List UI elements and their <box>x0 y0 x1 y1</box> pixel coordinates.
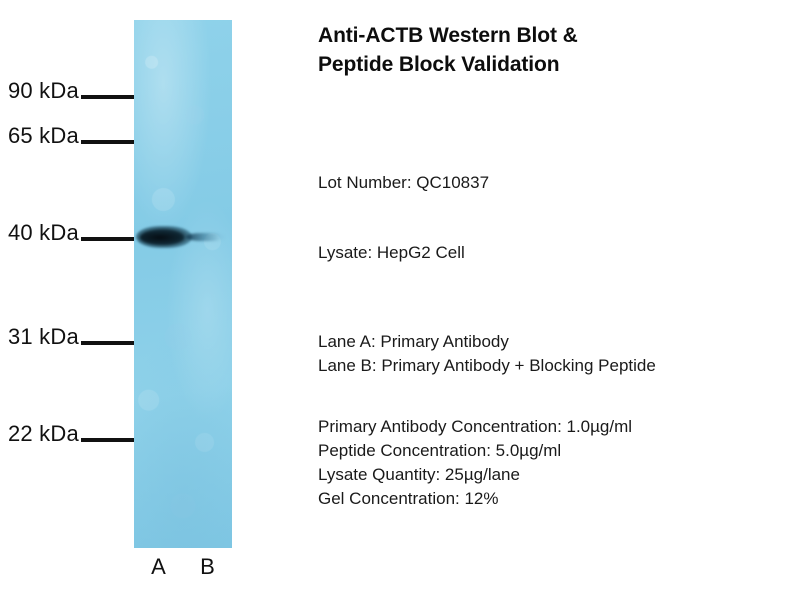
lysate-text: Lysate: HepG2 Cell <box>318 244 465 261</box>
page-title-line-1: Anti-ACTB Western Blot & <box>318 22 800 51</box>
marker-tick-22kda <box>81 438 134 442</box>
protein-band-lane-a-core <box>140 231 184 244</box>
page-title: Anti-ACTB Western Blot & Peptide Block V… <box>318 22 800 80</box>
blot-info-panel: Anti-ACTB Western Blot & Peptide Block V… <box>318 22 800 80</box>
gel-concentration-text: Gel Concentration: 12% <box>318 490 499 507</box>
lane-label-a: A <box>151 554 166 580</box>
marker-row-40kda: 40 kDa <box>8 220 134 246</box>
page-title-line-2: Peptide Block Validation <box>318 51 800 80</box>
protein-band-lane-b <box>186 233 226 241</box>
molecular-weight-marker-ladder: 90 kDa 65 kDa 40 kDa 31 kDa 22 kDa <box>0 0 134 600</box>
marker-row-31kda: 31 kDa <box>8 324 134 350</box>
marker-tick-40kda <box>81 237 134 241</box>
marker-label-22kda: 22 kDa <box>8 421 79 447</box>
lot-number-text: Lot Number: QC10837 <box>318 174 489 191</box>
marker-row-90kda: 90 kDa <box>8 78 134 104</box>
marker-row-65kda: 65 kDa <box>8 123 134 149</box>
blot-membrane-image <box>134 20 232 548</box>
primary-antibody-concentration-text: Primary Antibody Concentration: 1.0µg/ml <box>318 418 632 435</box>
marker-tick-90kda <box>81 95 134 99</box>
lane-label-b: B <box>200 554 215 580</box>
lane-label-row: A B <box>134 554 232 580</box>
marker-row-22kda: 22 kDa <box>8 421 134 447</box>
lane-b-description: Lane B: Primary Antibody + Blocking Pept… <box>318 357 656 374</box>
marker-tick-65kda <box>81 140 134 144</box>
peptide-concentration-text: Peptide Concentration: 5.0µg/ml <box>318 442 561 459</box>
lysate-quantity-text: Lysate Quantity: 25µg/lane <box>318 466 520 483</box>
membrane-texture <box>134 20 232 548</box>
lane-a-description: Lane A: Primary Antibody <box>318 333 509 350</box>
marker-tick-31kda <box>81 341 134 345</box>
marker-label-65kda: 65 kDa <box>8 123 79 149</box>
marker-label-90kda: 90 kDa <box>8 78 79 104</box>
marker-label-31kda: 31 kDa <box>8 324 79 350</box>
marker-label-40kda: 40 kDa <box>8 220 79 246</box>
